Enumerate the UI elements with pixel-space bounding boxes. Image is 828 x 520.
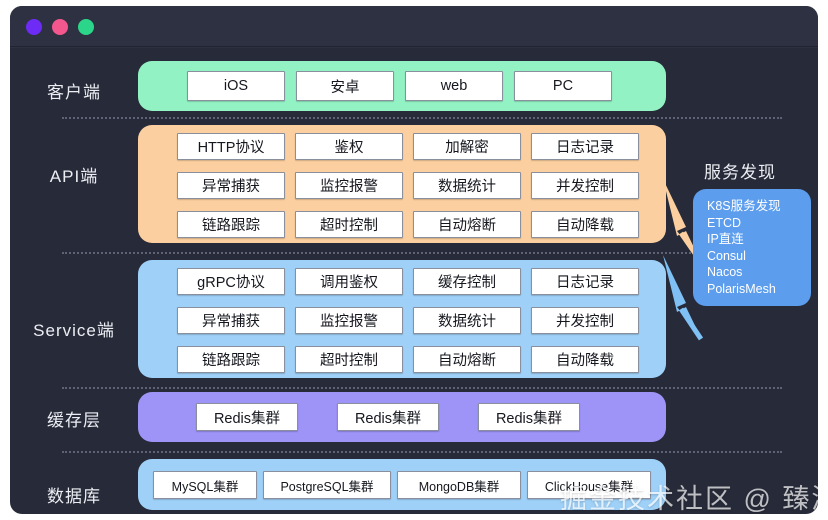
- chip-ios[interactable]: iOS: [187, 71, 285, 101]
- chip-svc-breaker[interactable]: 自动熔断: [413, 346, 521, 373]
- divider-api-service: [62, 252, 782, 254]
- chip-api-stats[interactable]: 数据统计: [413, 172, 521, 199]
- title-bar: [10, 6, 818, 48]
- divider-cache-db: [62, 451, 782, 453]
- chip-api-exception[interactable]: 异常捕获: [177, 172, 285, 199]
- chip-api-concurrency[interactable]: 并发控制: [531, 172, 639, 199]
- chip-api-log[interactable]: 日志记录: [531, 133, 639, 160]
- sd-item-consul: Consul: [707, 248, 811, 265]
- row-label-cache: 缓存层: [10, 406, 138, 431]
- service-discovery-title: 服务发现: [704, 158, 776, 183]
- row-label-service: Service端: [10, 316, 138, 341]
- chip-db-mysql[interactable]: MySQL集群: [153, 471, 257, 499]
- chip-api-monitor[interactable]: 监控报警: [295, 172, 403, 199]
- row-label-db: 数据库: [10, 482, 138, 507]
- row-label-api: API端: [10, 162, 138, 187]
- chip-db-mongodb[interactable]: MongoDB集群: [397, 471, 521, 499]
- chip-api-auth[interactable]: 鉴权: [295, 133, 403, 160]
- architecture-diagram: 客户端 iOS 安卓 web PC API端 HTTP协议 鉴权 加解密 日志记…: [10, 47, 818, 514]
- sd-item-polarismesh: PolarisMesh: [707, 281, 811, 298]
- row-label-client: 客户端: [10, 78, 138, 103]
- chip-svc-exception[interactable]: 异常捕获: [177, 307, 285, 334]
- close-button[interactable]: [26, 19, 42, 35]
- chip-redis-3[interactable]: Redis集群: [478, 403, 580, 431]
- chip-api-breaker[interactable]: 自动熔断: [413, 211, 521, 238]
- chip-svc-monitor[interactable]: 监控报警: [295, 307, 403, 334]
- chip-redis-1[interactable]: Redis集群: [196, 403, 298, 431]
- chip-svc-grpc[interactable]: gRPC协议: [177, 268, 285, 295]
- chip-api-http[interactable]: HTTP协议: [177, 133, 285, 160]
- chip-svc-timeout[interactable]: 超时控制: [295, 346, 403, 373]
- sd-item-nacos: Nacos: [707, 264, 811, 281]
- chip-api-crypto[interactable]: 加解密: [413, 133, 521, 160]
- chip-svc-cache[interactable]: 缓存控制: [413, 268, 521, 295]
- app-window: 客户端 iOS 安卓 web PC API端 HTTP协议 鉴权 加解密 日志记…: [10, 6, 818, 514]
- service-arrow-shaft: [681, 309, 701, 339]
- minimize-button[interactable]: [52, 19, 68, 35]
- chip-api-shedding[interactable]: 自动降载: [531, 211, 639, 238]
- watermark: 掘金技术社区 @ 臻源: [560, 477, 818, 514]
- chip-pc[interactable]: PC: [514, 71, 612, 101]
- chip-svc-shedding[interactable]: 自动降载: [531, 346, 639, 373]
- chip-redis-2[interactable]: Redis集群: [337, 403, 439, 431]
- chip-svc-log[interactable]: 日志记录: [531, 268, 639, 295]
- chip-svc-trace[interactable]: 链路跟踪: [177, 346, 285, 373]
- divider-client-api: [62, 117, 782, 119]
- divider-service-cache: [62, 387, 782, 389]
- sd-item-k8s: K8S服务发现: [707, 198, 811, 215]
- service-discovery-box[interactable]: K8S服务发现 ETCD IP直连 Consul Nacos PolarisMe…: [693, 189, 811, 306]
- chip-svc-auth[interactable]: 调用鉴权: [295, 268, 403, 295]
- maximize-button[interactable]: [78, 19, 94, 35]
- chip-db-postgresql[interactable]: PostgreSQL集群: [263, 471, 391, 499]
- chip-android[interactable]: 安卓: [296, 71, 394, 101]
- sd-item-ip-direct: IP直连: [707, 231, 811, 248]
- chip-api-timeout[interactable]: 超时控制: [295, 211, 403, 238]
- chip-svc-concurrency[interactable]: 并发控制: [531, 307, 639, 334]
- sd-item-etcd: ETCD: [707, 215, 811, 232]
- chip-api-trace[interactable]: 链路跟踪: [177, 211, 285, 238]
- chip-web[interactable]: web: [405, 71, 503, 101]
- chip-svc-stats[interactable]: 数据统计: [413, 307, 521, 334]
